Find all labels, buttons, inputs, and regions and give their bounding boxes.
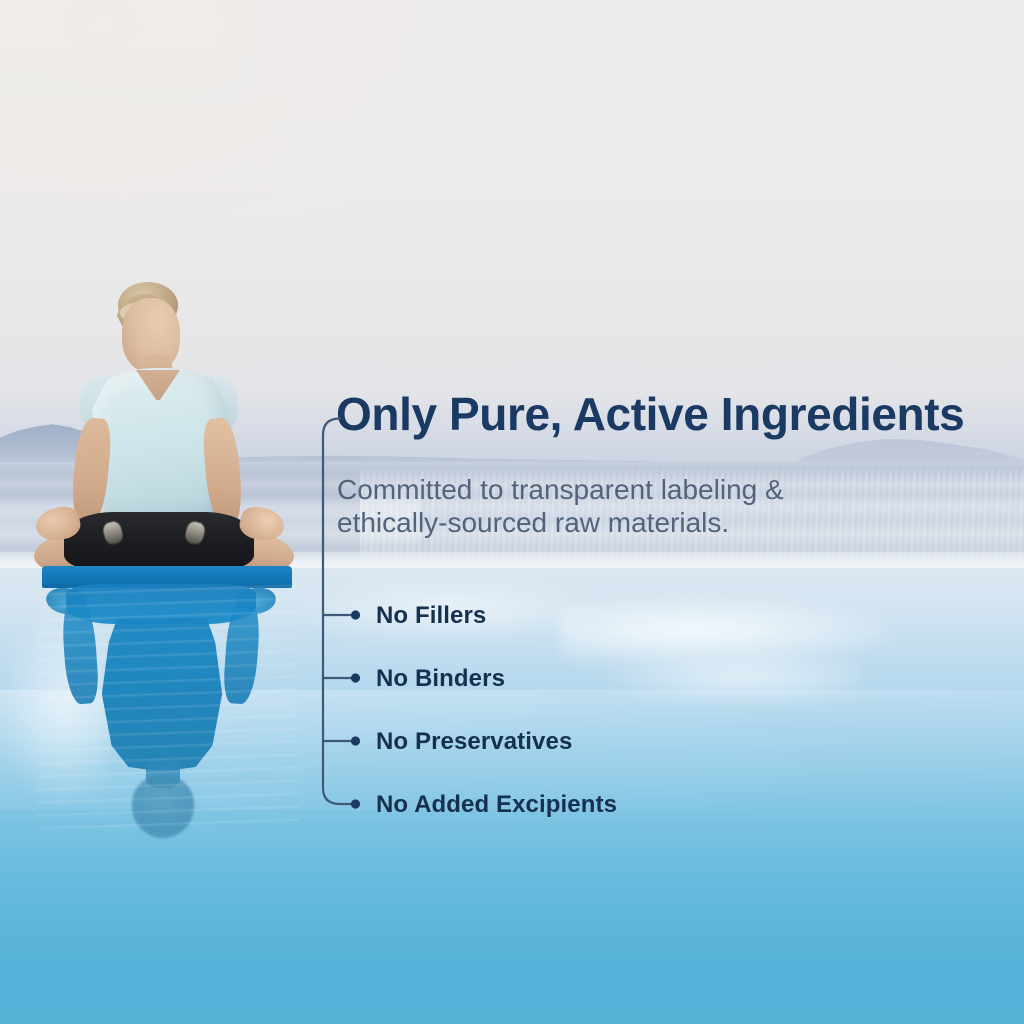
list-item: No Added Excipients [376, 791, 617, 819]
content-overlay: Only Pure, Active Ingredients Committed … [0, 0, 1024, 1024]
claims-list: No Fillers No Binders No Preservatives N… [0, 0, 1024, 1024]
list-item: No Preservatives [376, 728, 572, 756]
list-item: No Binders [376, 665, 505, 693]
list-item: No Fillers [376, 602, 486, 630]
promo-banner: Only Pure, Active Ingredients Committed … [0, 0, 1024, 1024]
